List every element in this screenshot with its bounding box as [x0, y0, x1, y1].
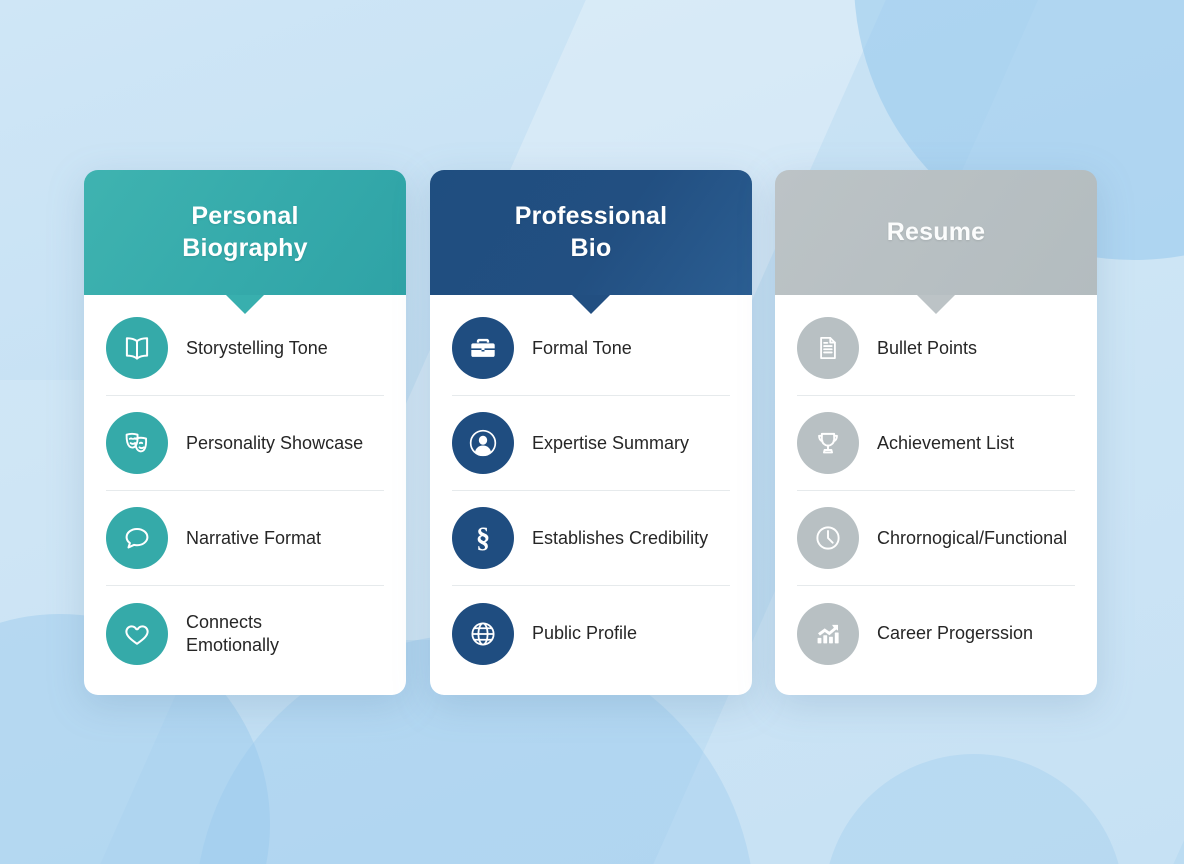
- feature-row[interactable]: § Establishes Credibility: [452, 491, 730, 586]
- feature-label: Formal Tone: [532, 337, 632, 359]
- briefcase-icon: [452, 317, 514, 379]
- feature-label: Narrative Format: [186, 527, 321, 549]
- feature-row[interactable]: Expertise Summary: [452, 396, 730, 491]
- card-title-line1: Professional: [515, 202, 667, 230]
- feature-label: Career Progerssion: [877, 622, 1033, 644]
- clock-icon: [797, 507, 859, 569]
- feature-label: Connects Emotionally: [186, 611, 336, 656]
- feature-label: Bullet Points: [877, 337, 977, 359]
- card-professional-bio[interactable]: Professional Bio Formal Tone: [430, 170, 752, 695]
- globe-icon: [452, 603, 514, 665]
- card-title: Personal Biography: [166, 201, 323, 264]
- header-notch: [226, 295, 264, 314]
- speech-bubble-icon: [106, 507, 168, 569]
- feature-label: Public Profile: [532, 622, 637, 644]
- card-body: Storystelling Tone Personality Sh: [84, 295, 406, 695]
- person-badge-icon: [452, 412, 514, 474]
- card-group: Personal Biography Storystelling Tone: [0, 0, 1184, 864]
- card-resume[interactable]: Resume Bullet Points: [775, 170, 1097, 695]
- header-notch: [572, 295, 610, 314]
- card-title-line1: Personal: [191, 202, 298, 230]
- card-title: Resume: [871, 217, 1001, 248]
- header-notch: [917, 295, 955, 314]
- bar-chart-arrow-icon: [797, 603, 859, 665]
- feature-row[interactable]: Bullet Points: [797, 301, 1075, 396]
- feature-row[interactable]: Connects Emotionally: [106, 586, 384, 681]
- feature-label: Storystelling Tone: [186, 337, 328, 359]
- heart-icon: [106, 603, 168, 665]
- card-header: Personal Biography: [84, 170, 406, 295]
- feature-row[interactable]: Public Profile: [452, 586, 730, 681]
- feature-label: Achievement List: [877, 432, 1014, 454]
- card-header: Professional Bio: [430, 170, 752, 295]
- feature-label: Expertise Summary: [532, 432, 689, 454]
- card-personal-biography[interactable]: Personal Biography Storystelling Tone: [84, 170, 406, 695]
- card-title-line1: Resume: [887, 218, 985, 246]
- card-body: Formal Tone Expertise Summary: [430, 295, 752, 695]
- card-header: Resume: [775, 170, 1097, 295]
- trophy-icon: [797, 412, 859, 474]
- feature-row[interactable]: Storystelling Tone: [106, 301, 384, 396]
- card-title-line2: Bio: [571, 234, 612, 262]
- card-title: Professional Bio: [499, 201, 683, 264]
- open-book-icon: [106, 317, 168, 379]
- section-sign-icon: §: [452, 507, 514, 569]
- feature-row[interactable]: Chrornogical/Functional: [797, 491, 1075, 586]
- infographic-canvas: Personal Biography Storystelling Tone: [0, 0, 1184, 864]
- feature-row[interactable]: Personality Showcase: [106, 396, 384, 491]
- card-title-line2: Biography: [182, 234, 307, 262]
- feature-row[interactable]: Achievement List: [797, 396, 1075, 491]
- svg-text:§: §: [476, 522, 490, 554]
- feature-label: Personality Showcase: [186, 432, 363, 454]
- feature-label: Chrornogical/Functional: [877, 527, 1067, 549]
- document-lines-icon: [797, 317, 859, 379]
- feature-row[interactable]: Career Progerssion: [797, 586, 1075, 681]
- feature-row[interactable]: Formal Tone: [452, 301, 730, 396]
- theater-masks-icon: [106, 412, 168, 474]
- feature-row[interactable]: Narrative Format: [106, 491, 384, 586]
- feature-label: Establishes Credibility: [532, 527, 708, 549]
- card-body: Bullet Points Achievement List: [775, 295, 1097, 695]
